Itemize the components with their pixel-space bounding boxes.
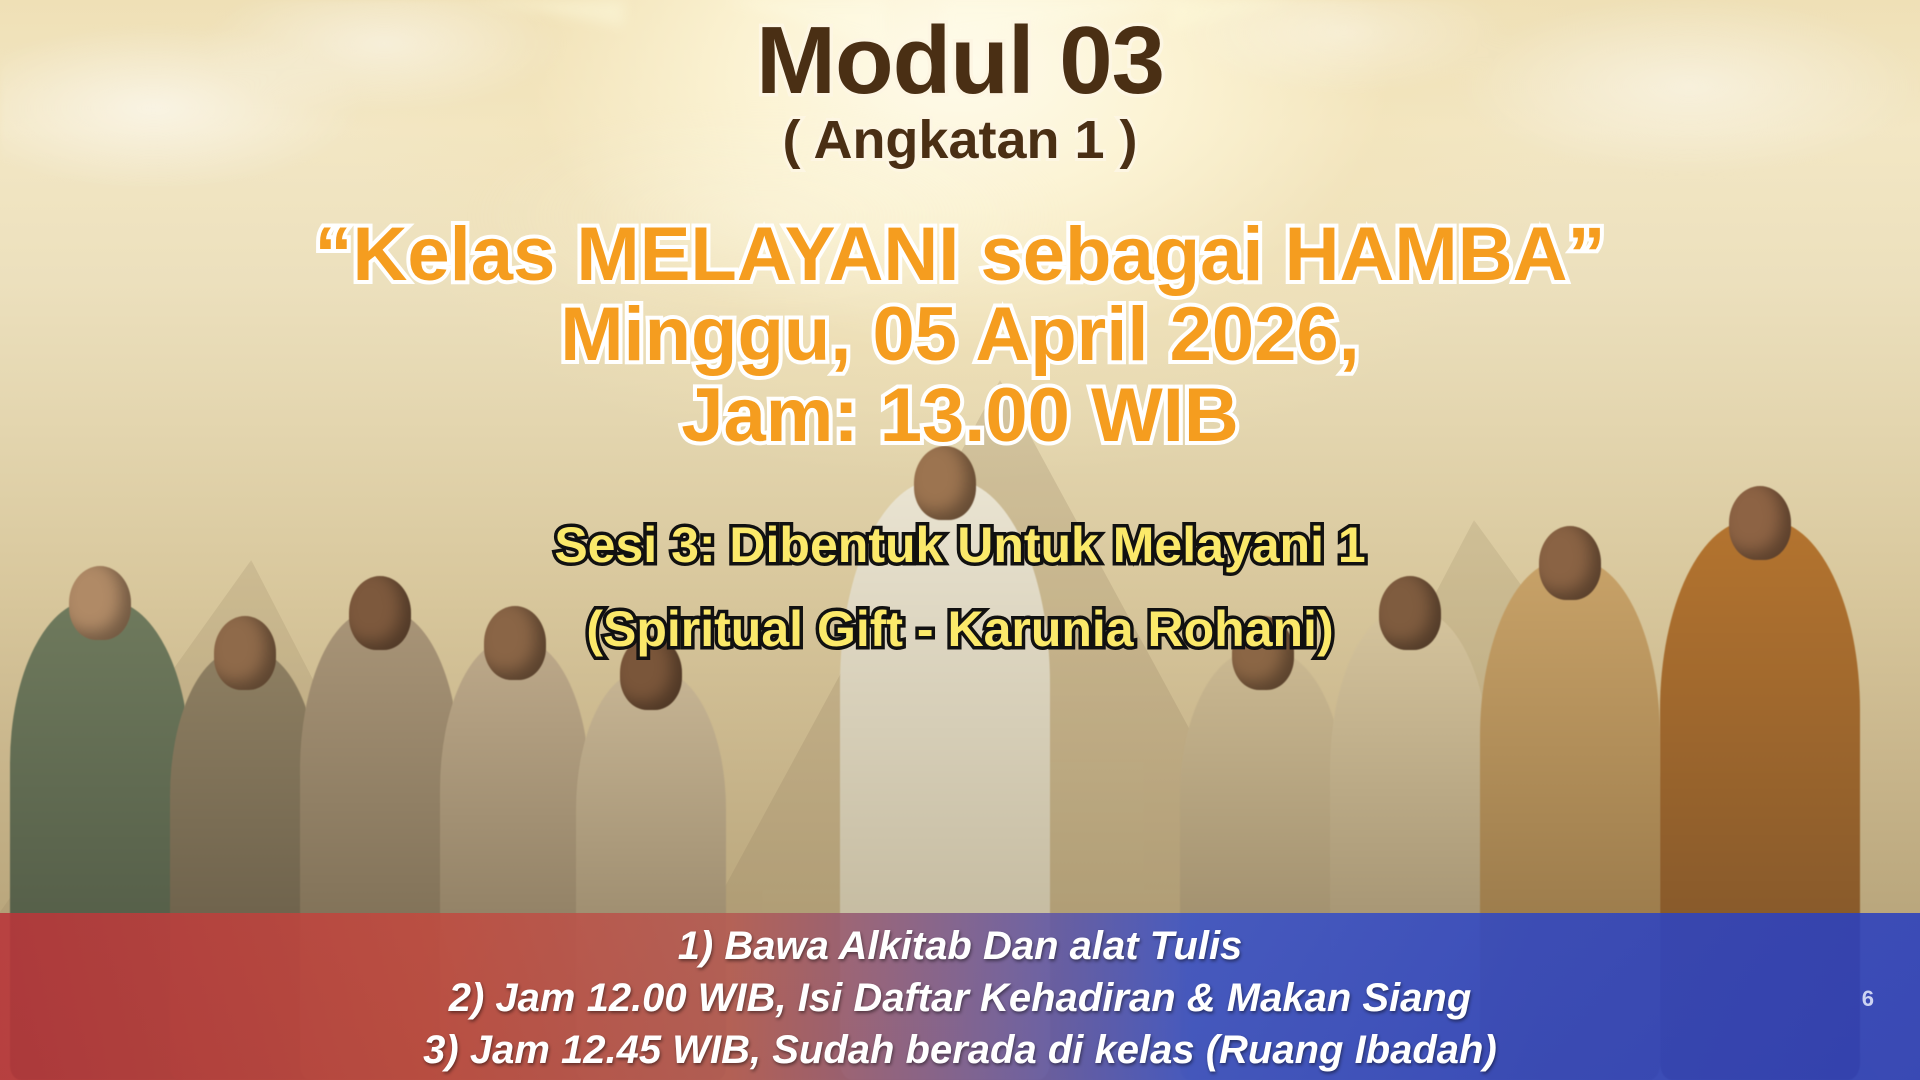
instruction-item-1: 1) Bawa Alkitab Dan alat Tulis: [0, 920, 1920, 972]
event-time: Jam: 13.00 WIB: [315, 376, 1606, 457]
page-number: 6: [1862, 986, 1874, 1012]
session-details: Sesi 3: Dibentuk Untuk Melayani 1 (Spiri…: [554, 518, 1365, 656]
event-details: “Kelas MELAYANI sebagai HAMBA” Minggu, 0…: [315, 215, 1606, 457]
slide-subtitle: ( Angkatan 1 ): [782, 112, 1137, 169]
session-topic: (Spiritual Gift - Karunia Rohani): [554, 602, 1365, 656]
event-class-name: “Kelas MELAYANI sebagai HAMBA”: [315, 215, 1606, 296]
presentation-slide: Modul 03 ( Angkatan 1 ) “Kelas MELAYANI …: [0, 0, 1920, 1080]
event-date: Minggu, 05 April 2026,: [315, 295, 1606, 376]
instruction-item-3: 3) Jam 12.45 WIB, Sudah berada di kelas …: [0, 1024, 1920, 1076]
instructions-list: 1) Bawa Alkitab Dan alat Tulis 2) Jam 12…: [0, 920, 1920, 1076]
slide-title: Modul 03: [756, 12, 1164, 110]
instruction-item-2: 2) Jam 12.00 WIB, Isi Daftar Kehadiran &…: [0, 972, 1920, 1024]
session-title: Sesi 3: Dibentuk Untuk Melayani 1: [554, 518, 1365, 572]
